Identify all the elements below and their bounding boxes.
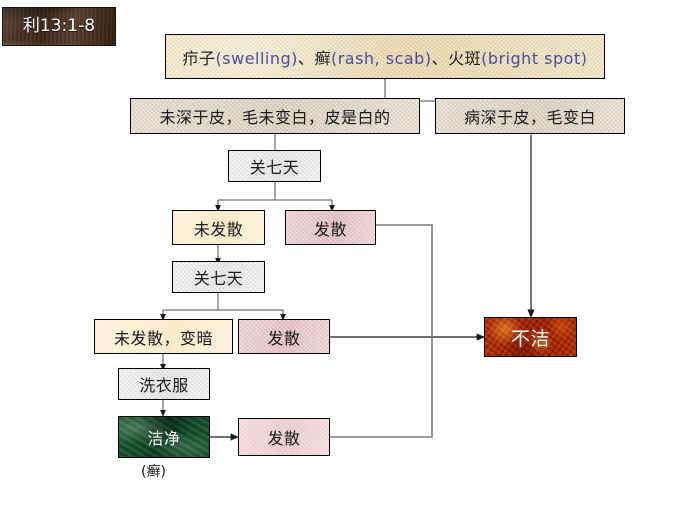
root-cn2: 癣 [314,49,331,68]
node-spread-first[interactable]: 发散 [285,210,376,245]
node-no-spread-second[interactable]: 未发散，变暗 [94,319,233,354]
node-unclean[interactable]: 不洁 [484,317,577,357]
node-wash-clothes[interactable]: 洗衣服 [118,368,210,400]
caption-ringworm-note: (癣) [141,461,166,481]
node-spread-second[interactable]: 发散 [238,319,330,354]
root-en2: (rash, scab) [331,49,432,68]
root-cn1: 疖子 [183,49,216,68]
node-shallow-lesion[interactable]: 未深于皮，毛未变白，皮是白的 [130,98,420,134]
node-deep-lesion[interactable]: 病深于皮，毛变白 [435,98,625,134]
node-quarantine-second[interactable]: 关七天 [172,261,265,293]
node-clean[interactable]: 洁净 [118,416,210,458]
root-text: 疖子(swelling)、癣(rash, scab)、火斑(bright spo… [183,45,588,69]
wire-spread3-to-unclean [329,337,432,437]
root-cn3: 火斑 [448,49,481,68]
node-spread-third[interactable]: 发散 [238,418,330,456]
node-quarantine-first[interactable]: 关七天 [228,150,321,182]
title-plaque: 利13:1-8 [2,7,116,46]
root-en1: (swelling) [216,49,298,68]
root-sep1: 、 [298,49,315,68]
root-en3: (bright spot) [481,49,587,68]
flowchart-canvas: 利13:1-8 疖子(swelling)、癣(rash, scab)、火斑(br… [0,0,681,508]
root-sep2: 、 [432,49,449,68]
wire-spread1-to-unclean [376,225,432,337]
node-root-symptoms[interactable]: 疖子(swelling)、癣(rash, scab)、火斑(bright spo… [165,34,605,79]
node-no-spread-first[interactable]: 未发散 [172,210,265,245]
